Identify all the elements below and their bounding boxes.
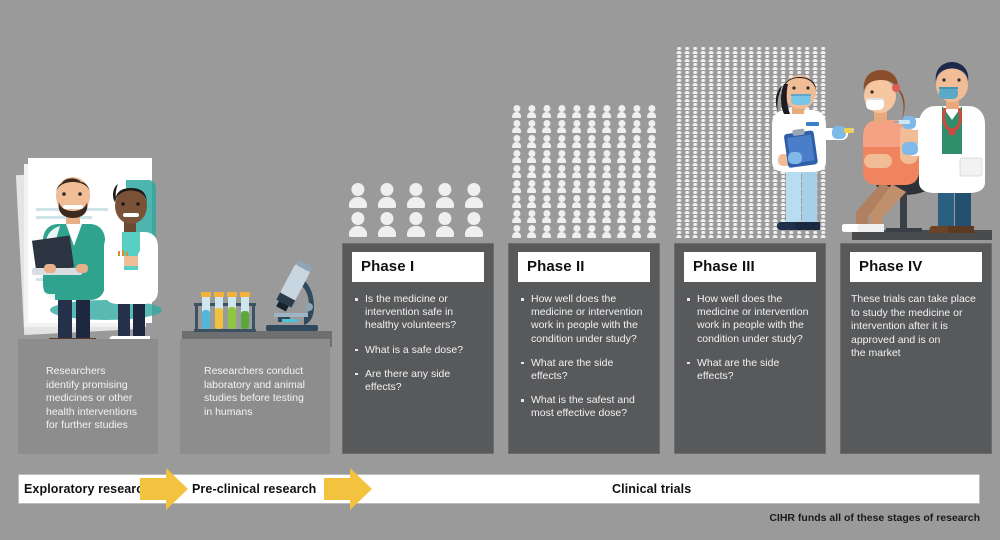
person-icon [675, 62, 683, 70]
preclinical-illustration [182, 255, 332, 347]
person-icon [554, 133, 569, 148]
person-icon [699, 158, 707, 166]
person-icon [569, 103, 584, 118]
person-icon [811, 62, 819, 70]
person-icon [739, 182, 747, 190]
person-icon [554, 178, 569, 193]
person-icon [509, 208, 524, 223]
person-icon [699, 142, 707, 150]
person-icon [723, 230, 731, 238]
person-icon [755, 62, 763, 70]
person-icon [699, 182, 707, 190]
person-icon [569, 193, 584, 208]
person-icon [731, 166, 739, 174]
person-icon [723, 190, 731, 198]
nurse-illustration [758, 70, 854, 240]
person-icon [723, 158, 731, 166]
person-icon [691, 230, 699, 238]
person-icon [731, 78, 739, 86]
person-icon [731, 134, 739, 142]
person-icon [731, 126, 739, 134]
person-icon [584, 103, 599, 118]
person-icon [755, 54, 763, 62]
person-icon [707, 78, 715, 86]
person-icon [715, 110, 723, 118]
flow-arrow-2 [322, 466, 374, 512]
person-icon [675, 206, 683, 214]
person-icon [715, 86, 723, 94]
person-icon [747, 126, 755, 134]
person-icon [707, 166, 715, 174]
person-icon [707, 46, 715, 54]
person-icon [539, 133, 554, 148]
person-icon [699, 102, 707, 110]
person-icon [747, 46, 755, 54]
person-icon [683, 198, 691, 206]
person-icon [584, 148, 599, 163]
person-icon [675, 214, 683, 222]
person-icon [614, 103, 629, 118]
person-icon [629, 193, 644, 208]
person-icon [524, 148, 539, 163]
person-icon [723, 86, 731, 94]
person-icon [524, 223, 539, 238]
person-icon [683, 174, 691, 182]
person-icon [715, 190, 723, 198]
person-icon [675, 158, 683, 166]
person-icon [699, 198, 707, 206]
person-icon [699, 134, 707, 142]
person-icon [731, 222, 739, 230]
person-icon [599, 193, 614, 208]
person-icon [723, 54, 731, 62]
person-icon [739, 158, 747, 166]
person-icon [747, 94, 755, 102]
person-icon [569, 208, 584, 223]
person-icon [739, 54, 747, 62]
person-icon [539, 208, 554, 223]
person-icon [715, 158, 723, 166]
person-icon [629, 118, 644, 133]
person-icon [723, 222, 731, 230]
person-icon [584, 133, 599, 148]
person-icon [691, 46, 699, 54]
person-icon [683, 62, 691, 70]
person-icon [723, 94, 731, 102]
person-icon [675, 46, 683, 54]
person-icon [779, 46, 787, 54]
person-icon [644, 193, 659, 208]
person-icon [739, 86, 747, 94]
flow-arrow-1 [138, 466, 190, 512]
person-icon [747, 214, 755, 222]
person-icon [723, 134, 731, 142]
person-icon [524, 178, 539, 193]
person-icon [614, 118, 629, 133]
person-icon [723, 126, 731, 134]
person-icon [683, 46, 691, 54]
person-icon [683, 94, 691, 102]
person-icon [715, 54, 723, 62]
person-icon [747, 190, 755, 198]
person-icon [524, 103, 539, 118]
person-icon [539, 103, 554, 118]
person-icon [539, 148, 554, 163]
exploratory-caption-box: Researchers identify promising medicines… [18, 339, 158, 454]
person-icon [715, 214, 723, 222]
person-icon [723, 118, 731, 126]
preclinical-caption-text: Researchers conduct laboratory and anima… [204, 365, 305, 418]
flow-label-text: Pre-clinical research [192, 482, 316, 496]
person-icon [739, 222, 747, 230]
person-icon [707, 198, 715, 206]
person-icon [723, 110, 731, 118]
person-icon [691, 86, 699, 94]
person-icon [731, 86, 739, 94]
person-icon [372, 180, 401, 209]
person-icon [691, 174, 699, 182]
person-icon [459, 209, 488, 238]
person-icon [675, 54, 683, 62]
person-icon [584, 178, 599, 193]
person-icon [707, 182, 715, 190]
person-icon [629, 208, 644, 223]
person-icon [401, 180, 430, 209]
person-icon [614, 178, 629, 193]
person-icon [715, 174, 723, 182]
person-icon [731, 158, 739, 166]
phase-3-title: Phase III [684, 252, 816, 282]
person-icon [811, 54, 819, 62]
person-icon [747, 62, 755, 70]
phase-2-panel: Phase II How well does the medicine or i… [508, 243, 660, 454]
person-icon [739, 174, 747, 182]
person-icon [699, 222, 707, 230]
phase-3-bullets: How well does the medicine or interventi… [684, 293, 816, 383]
person-icon [675, 182, 683, 190]
person-icon [524, 163, 539, 178]
person-icon [629, 103, 644, 118]
person-icon [747, 54, 755, 62]
person-icon [731, 62, 739, 70]
person-icon [699, 54, 707, 62]
person-icon [747, 158, 755, 166]
person-icon [509, 193, 524, 208]
person-icon [691, 70, 699, 78]
person-icon [787, 62, 795, 70]
person-icon [739, 78, 747, 86]
person-icon [539, 178, 554, 193]
person-icon [691, 222, 699, 230]
person-icon [731, 102, 739, 110]
person-icon [569, 148, 584, 163]
person-icon [629, 133, 644, 148]
person-icon [723, 46, 731, 54]
person-icon [675, 94, 683, 102]
person-icon [819, 62, 827, 70]
person-icon [683, 190, 691, 198]
phase-2-title: Phase II [518, 252, 650, 282]
person-icon [707, 62, 715, 70]
phase-4-illustration [842, 58, 992, 240]
person-icon [723, 214, 731, 222]
phase-1-people-grid [343, 166, 493, 238]
person-icon [739, 166, 747, 174]
person-icon [509, 163, 524, 178]
person-icon [803, 46, 811, 54]
person-icon [699, 118, 707, 126]
person-icon [683, 86, 691, 94]
person-icon [731, 110, 739, 118]
person-icon [779, 62, 787, 70]
person-icon [683, 54, 691, 62]
person-icon [683, 214, 691, 222]
person-icon [691, 158, 699, 166]
person-icon [644, 163, 659, 178]
person-icon [731, 46, 739, 54]
person-icon [723, 70, 731, 78]
person-icon [707, 158, 715, 166]
flow-label-exploratory: Exploratory research [24, 475, 151, 503]
phase-1-title: Phase I [352, 252, 484, 282]
person-icon [554, 208, 569, 223]
person-icon [691, 102, 699, 110]
person-icon [683, 206, 691, 214]
person-icon [739, 214, 747, 222]
person-icon [691, 94, 699, 102]
person-icon [509, 118, 524, 133]
person-icon [509, 148, 524, 163]
person-icon [599, 163, 614, 178]
person-icon [554, 118, 569, 133]
person-icon [644, 208, 659, 223]
person-icon [509, 178, 524, 193]
person-icon [715, 118, 723, 126]
person-icon [584, 193, 599, 208]
person-icon [747, 110, 755, 118]
person-icon [683, 78, 691, 86]
person-icon [699, 110, 707, 118]
person-icon [683, 134, 691, 142]
person-icon [554, 193, 569, 208]
person-icon [691, 62, 699, 70]
person-icon [707, 230, 715, 238]
person-icon [747, 78, 755, 86]
person-icon [715, 62, 723, 70]
person-icon [539, 163, 554, 178]
person-icon [771, 46, 779, 54]
person-icon [343, 209, 372, 238]
person-icon [795, 62, 803, 70]
person-icon [763, 46, 771, 54]
person-icon [747, 150, 755, 158]
person-icon [699, 78, 707, 86]
person-icon [524, 208, 539, 223]
person-icon [747, 174, 755, 182]
person-icon [699, 126, 707, 134]
person-icon [675, 230, 683, 238]
person-icon [683, 222, 691, 230]
person-icon [569, 118, 584, 133]
person-icon [739, 46, 747, 54]
person-icon [747, 230, 755, 238]
person-icon [554, 223, 569, 238]
person-icon [683, 158, 691, 166]
person-icon [430, 209, 459, 238]
person-icon [699, 150, 707, 158]
person-icon [715, 94, 723, 102]
person-icon [430, 180, 459, 209]
person-icon [584, 163, 599, 178]
person-icon [715, 142, 723, 150]
phase-1-bullet: What is a safe dose? [352, 344, 484, 357]
person-icon [771, 62, 779, 70]
person-icon [747, 86, 755, 94]
person-icon [739, 142, 747, 150]
person-icon [731, 70, 739, 78]
person-icon [707, 102, 715, 110]
footer-credit: CIHR funds all of these stages of resear… [769, 512, 980, 524]
person-icon [599, 103, 614, 118]
phase-4-body: These trials can take place to study the… [850, 293, 982, 361]
person-icon [675, 118, 683, 126]
person-icon [723, 102, 731, 110]
person-icon [691, 78, 699, 86]
person-icon [723, 62, 731, 70]
person-icon [691, 110, 699, 118]
person-icon [723, 182, 731, 190]
person-icon [787, 46, 795, 54]
person-icon [731, 142, 739, 150]
person-icon [683, 182, 691, 190]
person-icon [707, 214, 715, 222]
person-icon [707, 126, 715, 134]
person-icon [731, 54, 739, 62]
person-icon [699, 230, 707, 238]
person-icon [739, 190, 747, 198]
person-icon [747, 134, 755, 142]
person-icon [747, 118, 755, 126]
person-icon [723, 198, 731, 206]
person-icon [731, 150, 739, 158]
person-icon [691, 150, 699, 158]
person-icon [739, 230, 747, 238]
person-icon [691, 142, 699, 150]
person-icon [747, 206, 755, 214]
person-icon [675, 150, 683, 158]
phase-2-bullet: What is the safest and most effective do… [518, 394, 650, 420]
person-icon [795, 54, 803, 62]
person-icon [699, 86, 707, 94]
person-icon [715, 222, 723, 230]
person-icon [614, 133, 629, 148]
person-icon [707, 222, 715, 230]
person-icon [614, 148, 629, 163]
person-icon [739, 94, 747, 102]
person-icon [599, 223, 614, 238]
person-icon [707, 174, 715, 182]
phase-1-panel: Phase I Is the medicine or intervention … [342, 243, 494, 454]
phase-3-panel: Phase III How well does the medicine or … [674, 243, 826, 454]
person-icon [599, 178, 614, 193]
person-icon [683, 102, 691, 110]
person-icon [691, 214, 699, 222]
person-icon [629, 178, 644, 193]
person-icon [524, 193, 539, 208]
person-icon [644, 148, 659, 163]
person-icon [715, 198, 723, 206]
person-icon [707, 70, 715, 78]
person-icon [584, 118, 599, 133]
phase-4-panel: Phase IV These trials can take place to … [840, 243, 992, 454]
person-icon [723, 174, 731, 182]
person-icon [747, 222, 755, 230]
person-icon [614, 163, 629, 178]
exploratory-caption-text: Researchers identify promising medicines… [46, 365, 137, 431]
person-icon [629, 223, 644, 238]
person-icon [599, 148, 614, 163]
person-icon [675, 142, 683, 150]
person-icon [459, 180, 488, 209]
person-icon [644, 118, 659, 133]
person-icon [763, 54, 771, 62]
person-icon [715, 166, 723, 174]
person-icon [739, 134, 747, 142]
person-icon [675, 198, 683, 206]
person-icon [683, 126, 691, 134]
person-icon [715, 126, 723, 134]
person-icon [755, 46, 763, 54]
person-icon [675, 166, 683, 174]
person-icon [739, 206, 747, 214]
person-icon [739, 62, 747, 70]
person-icon [819, 46, 827, 54]
flow-label-clinical-trials: Clinical trials [612, 475, 691, 503]
person-icon [599, 118, 614, 133]
person-icon [731, 214, 739, 222]
person-icon [675, 174, 683, 182]
person-icon [731, 230, 739, 238]
phase-1-bullet: Is the medicine or intervention safe in … [352, 293, 484, 333]
person-icon [675, 70, 683, 78]
person-icon [644, 133, 659, 148]
person-icon [707, 110, 715, 118]
person-icon [691, 198, 699, 206]
person-icon [691, 182, 699, 190]
person-icon [675, 102, 683, 110]
person-icon [731, 182, 739, 190]
exploratory-illustration [14, 150, 174, 355]
phase-2-bullet: What are the side effects? [518, 357, 650, 383]
person-icon [699, 206, 707, 214]
person-icon [699, 214, 707, 222]
flow-label-text: Exploratory research [24, 482, 151, 496]
person-icon [731, 94, 739, 102]
person-icon [763, 62, 771, 70]
person-icon [819, 54, 827, 62]
person-icon [787, 54, 795, 62]
person-icon [747, 166, 755, 174]
person-icon [699, 174, 707, 182]
person-icon [747, 102, 755, 110]
person-icon [707, 94, 715, 102]
person-icon [691, 190, 699, 198]
person-icon [771, 54, 779, 62]
person-icon [644, 223, 659, 238]
person-icon [554, 148, 569, 163]
person-icon [747, 182, 755, 190]
person-icon [715, 182, 723, 190]
